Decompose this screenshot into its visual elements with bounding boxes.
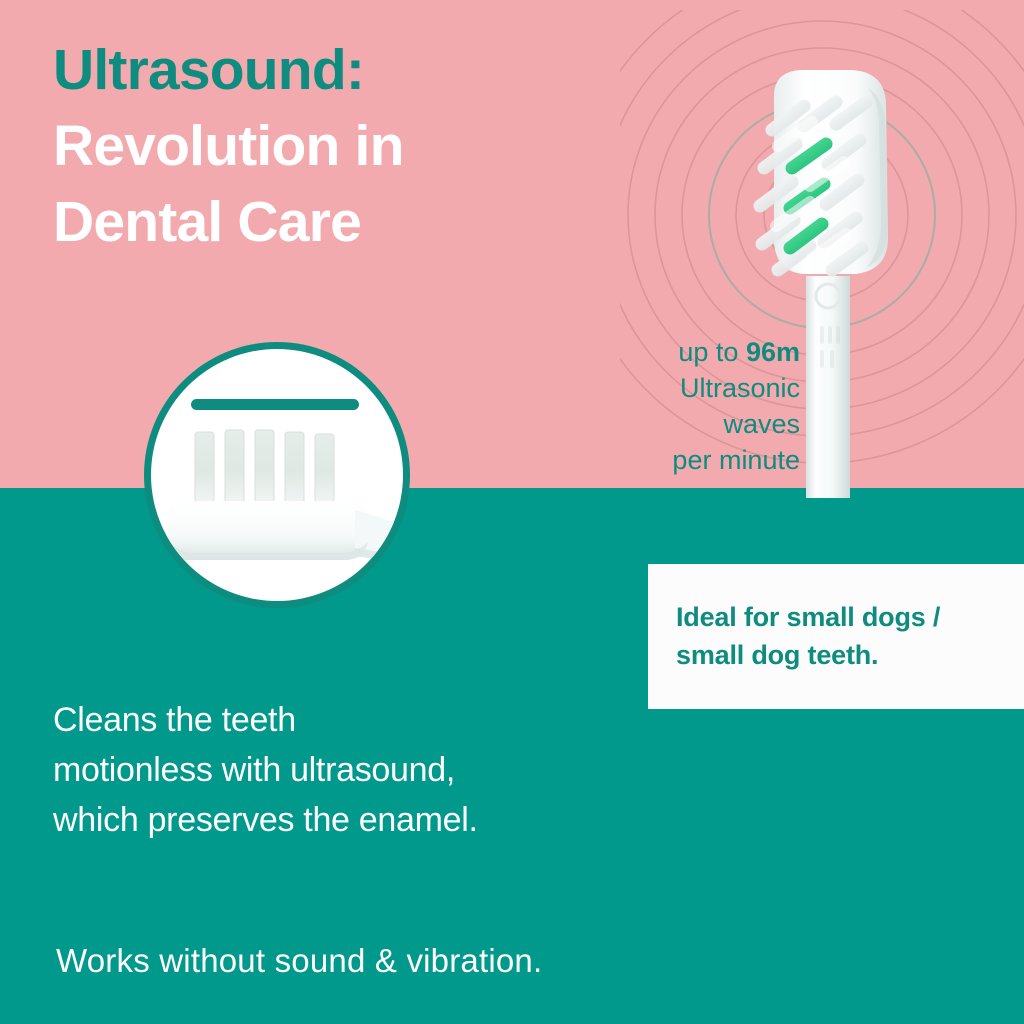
stat-prefix: up to [678, 337, 746, 367]
callout-text: Ideal for small dogs / small dog teeth. [676, 598, 1024, 674]
stat-line-4: per minute [540, 442, 800, 478]
poster: Ultrasound: Revolution in Dental Care up… [0, 0, 1024, 1024]
footer-text: Works without sound & vibration. [56, 938, 856, 984]
ultrasonic-stat: up to 96m Ultrasonic waves per minute [540, 334, 800, 478]
callout-line-2: small dog teeth. [676, 636, 1024, 674]
stat-line-3: waves [540, 406, 800, 442]
stat-line-2: Ultrasonic [540, 370, 800, 406]
stat-line-1: up to 96m [540, 334, 800, 370]
toothbrush-side-view-inset [129, 334, 425, 617]
gumline-bar-icon [191, 399, 359, 410]
body-line-1: Cleans the teeth [53, 695, 693, 745]
callout-box: Ideal for small dogs / small dog teeth. [648, 564, 1024, 709]
callout-line-1: Ideal for small dogs / [676, 598, 1024, 636]
headline-line-1: Ultrasound: [53, 32, 613, 108]
body-line-3: which preserves the enamel. [53, 795, 693, 845]
page-title: Ultrasound: Revolution in Dental Care [53, 32, 613, 260]
body-paragraph: Cleans the teeth motionless with ultraso… [53, 695, 693, 845]
headline-line-3: Dental Care [53, 184, 613, 260]
body-line-2: motionless with ultrasound, [53, 745, 693, 795]
stat-value: 96m [746, 337, 800, 367]
headline-line-2: Revolution in [53, 108, 613, 184]
